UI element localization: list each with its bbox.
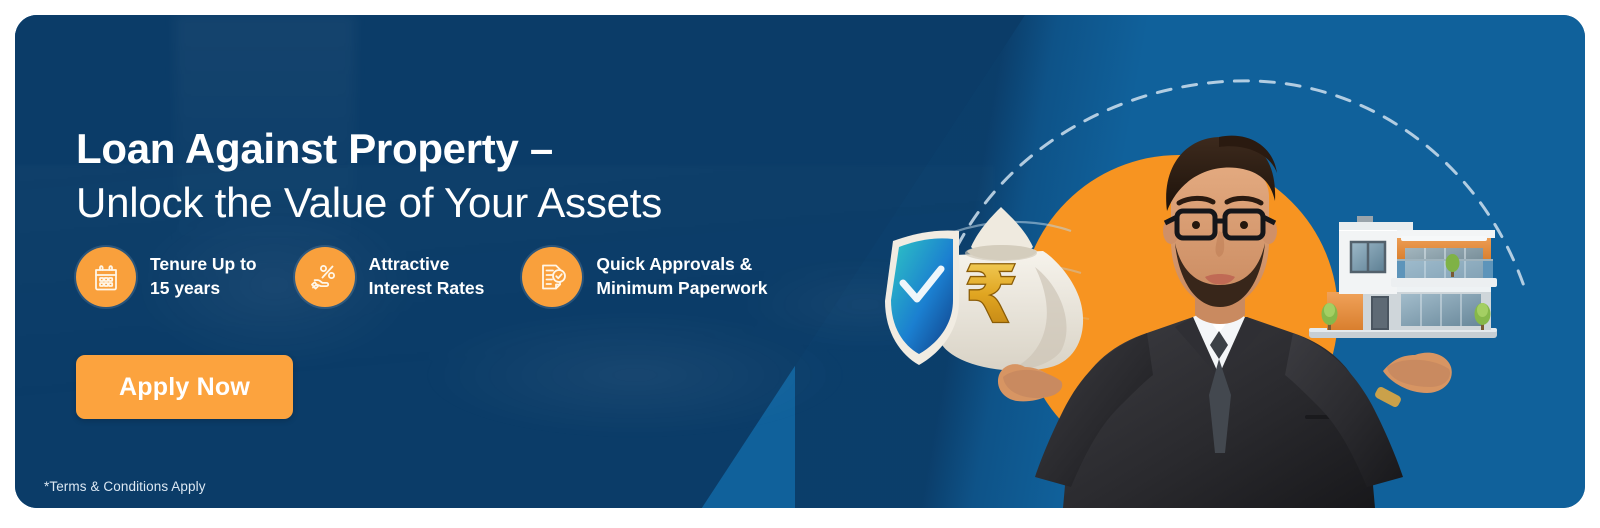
document-check-icon [522,247,582,307]
feature-label-interest: Attractive Interest Rates [369,253,485,301]
apply-now-button[interactable]: Apply Now [76,355,293,419]
percent-hand-icon [295,247,355,307]
page-title: Loan Against Property – Unlock the Value… [76,124,662,227]
feature-item-approvals: Quick Approvals & Minimum Paperwork [522,247,767,307]
terms-and-conditions-text: *Terms & Conditions Apply [44,479,206,494]
headline-line-2: Unlock the Value of Your Assets [76,178,662,228]
feature-line-2: Minimum Paperwork [596,277,767,301]
feature-item-interest: Attractive Interest Rates [295,247,485,307]
calendar-icon [76,247,136,307]
banner-content: Loan Against Property – Unlock the Value… [76,15,896,508]
orange-circle-backdrop [1020,155,1338,473]
feature-line-1: Tenure Up to [150,254,257,274]
feature-label-approvals: Quick Approvals & Minimum Paperwork [596,253,767,301]
promo-banner: ₹ [15,15,1585,508]
feature-line-2: Interest Rates [369,277,485,301]
feature-line-1: Attractive [369,254,450,274]
feature-label-tenure: Tenure Up to 15 years [150,253,257,301]
feature-item-tenure: Tenure Up to 15 years [76,247,257,307]
feature-list: Tenure Up to 15 years Attractive [76,247,768,307]
feature-line-1: Quick Approvals & [596,254,752,274]
headline-line-1: Loan Against Property – [76,124,662,174]
feature-line-2: 15 years [150,277,257,301]
